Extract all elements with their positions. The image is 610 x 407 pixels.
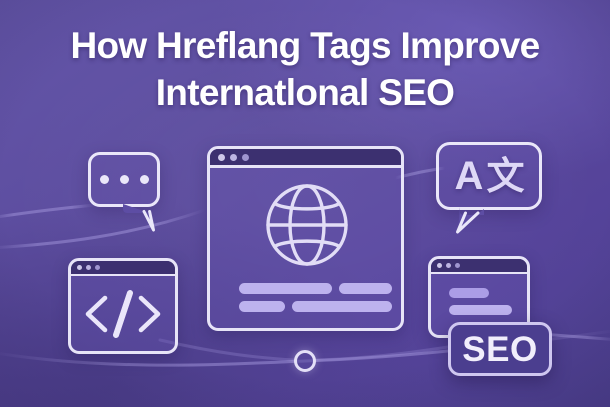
content-bar-1b [339,283,392,294]
chat-bubble-dots [91,155,157,204]
results-traffic-light-3 [455,263,460,268]
network-hub-node [294,350,316,372]
code-window-titlebar [71,261,175,276]
title-line-2: Internatlonal SEO [26,69,584,116]
seo-chip-label: SEO [462,332,537,367]
globe-browser-window [207,146,404,331]
code-browser-window [68,258,178,354]
content-bar-1a [239,283,332,294]
translate-latin-glyph: A [455,156,483,196]
content-bar-2b [292,301,392,312]
chat-dot-3 [140,175,149,184]
seo-chip: SEO [448,322,552,376]
code-traffic-light-3 [95,265,100,270]
chat-dot-2 [120,175,129,184]
code-traffic-light-2 [86,265,91,270]
code-traffic-light-1 [77,265,82,270]
chat-dot-1 [100,175,109,184]
translate-glyphs: A 文 [439,145,539,207]
results-bar-1 [449,288,489,298]
code-slash-icon [71,276,175,351]
traffic-light-green [242,154,249,161]
translate-bubble-tail [452,203,492,237]
globe-icon [265,183,349,267]
results-window-titlebar [431,259,527,274]
content-bar-2a [239,301,285,312]
translate-cjk-glyph: 文 [486,157,523,195]
title-line-1: How Hreflang Tags Improve [26,22,584,69]
chat-bubble [88,152,160,207]
results-bar-2 [449,305,512,315]
hero-illustration-canvas: How Hreflang Tags Improve Internatlonal … [0,0,610,407]
results-traffic-light-1 [437,263,442,268]
chat-bubble-tail [120,200,160,234]
code-window-body [71,276,175,351]
page-title: How Hreflang Tags Improve Internatlonal … [0,22,610,116]
translate-bubble: A 文 [436,142,542,210]
globe-window-body [210,168,401,328]
traffic-light-red [218,154,225,161]
results-traffic-light-2 [446,263,451,268]
globe-window-titlebar [210,149,401,168]
traffic-light-yellow [230,154,237,161]
